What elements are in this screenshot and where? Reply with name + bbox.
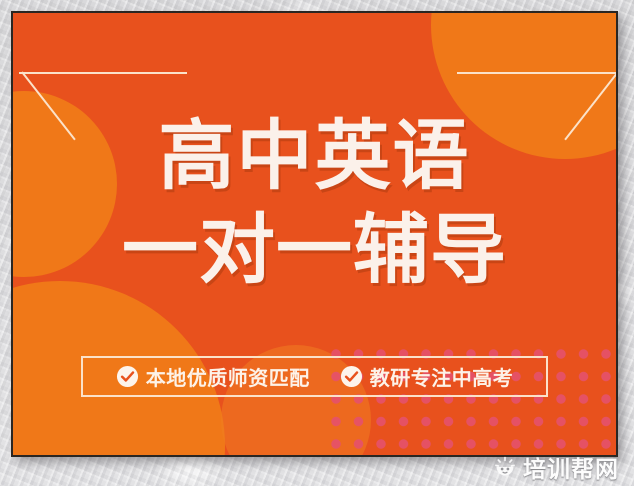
watermark-label: 培训帮网 [523, 450, 619, 484]
decorative-rule-right [457, 72, 616, 74]
check-circle-icon [116, 365, 139, 388]
headline-line-2: 一对一辅导 [13, 203, 616, 297]
feature-badge-1: 本地优质师资匹配 [116, 362, 310, 391]
feature-badge-1-label: 本地优质师资匹配 [146, 362, 310, 391]
feature-badge-strip: 本地优质师资匹配 教研专注中高考 [81, 356, 548, 397]
feature-badge-2-label: 教研专注中高考 [370, 362, 514, 391]
check-circle-icon [340, 365, 363, 388]
decorative-rule-left [19, 72, 187, 74]
poster-inner: 高中英语 一对一辅导 本地优质师资匹配 教研专注中 [13, 13, 616, 455]
headline-block: 高中英语 一对一辅导 [13, 109, 616, 297]
feature-badge-2: 教研专注中高考 [340, 362, 514, 391]
sun-face-icon [493, 455, 517, 479]
outer-canvas: 高中英语 一对一辅导 本地优质师资匹配 教研专注中 [0, 0, 634, 486]
watermark: 培训帮网 [489, 452, 623, 482]
headline-line-1: 高中英语 [13, 109, 616, 203]
poster-panel: 高中英语 一对一辅导 本地优质师资匹配 教研专注中 [11, 11, 618, 457]
